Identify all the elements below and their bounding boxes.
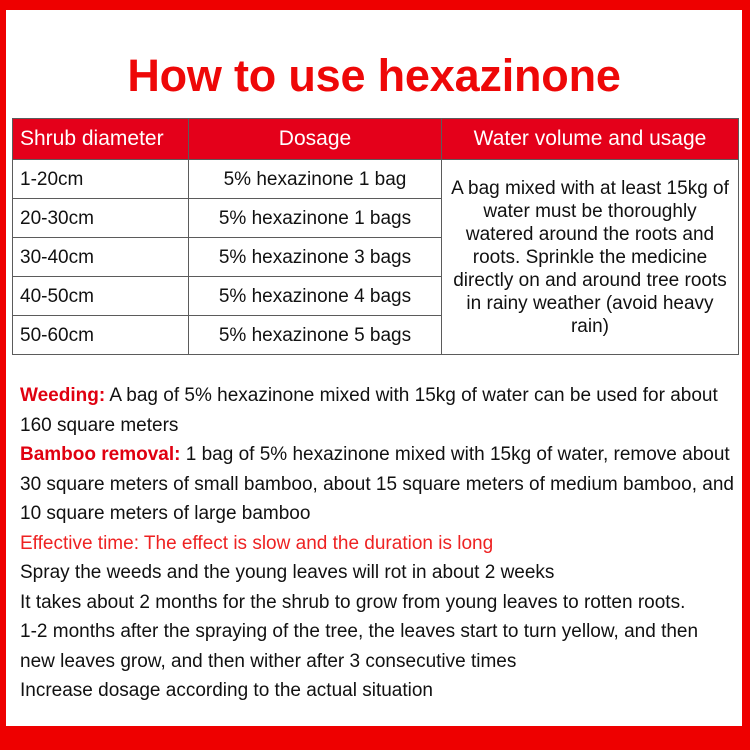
cell-shrub-diameter: 20-30cm	[13, 199, 189, 238]
page-title: How to use hexazinone	[12, 10, 736, 118]
cell-dosage: 5% hexazinone 4 bags	[189, 277, 442, 316]
column-header-water-volume-and-usage: Water volume and usage	[442, 119, 739, 160]
table-header-row: Shrub diameter Dosage Water volume and u…	[13, 119, 739, 160]
cell-shrub-diameter: 30-40cm	[13, 238, 189, 277]
dosage-table: Shrub diameter Dosage Water volume and u…	[12, 118, 739, 355]
cell-shrub-diameter: 1-20cm	[13, 160, 189, 199]
column-header-shrub-diameter: Shrub diameter	[13, 119, 189, 160]
weeding-label: Weeding:	[20, 385, 105, 406]
spray-weeds-note: Spray the weeds and the young leaves wil…	[20, 558, 734, 588]
weeding-text: A bag of 5% hexazinone mixed with 15kg o…	[20, 385, 718, 436]
increase-dosage-note: Increase dosage according to the actual …	[20, 676, 734, 706]
poster-frame: How to use hexazinone Shrub diameter Dos…	[0, 0, 750, 750]
bamboo-removal-label: Bamboo removal:	[20, 444, 180, 465]
shrub-growth-note: It takes about 2 months for the shrub to…	[20, 588, 734, 618]
cell-shrub-diameter: 50-60cm	[13, 316, 189, 355]
cell-dosage: 5% hexazinone 5 bags	[189, 316, 442, 355]
cell-dosage: 5% hexazinone 1 bags	[189, 199, 442, 238]
table-body: 1-20cm 5% hexazinone 1 bag A bag mixed w…	[13, 160, 739, 355]
column-header-dosage: Dosage	[189, 119, 442, 160]
cell-dosage: 5% hexazinone 3 bags	[189, 238, 442, 277]
cell-dosage: 5% hexazinone 1 bag	[189, 160, 442, 199]
cell-water-volume-and-usage: A bag mixed with at least 15kg of water …	[442, 160, 739, 355]
poster-body: How to use hexazinone Shrub diameter Dos…	[6, 10, 742, 726]
table-header: Shrub diameter Dosage Water volume and u…	[13, 119, 739, 160]
cell-shrub-diameter: 40-50cm	[13, 277, 189, 316]
bamboo-removal-note: Bamboo removal: 1 bag of 5% hexazinone m…	[20, 440, 734, 529]
effective-time-note: Effective time: The effect is slow and t…	[20, 529, 734, 559]
instructions-block: Weeding: A bag of 5% hexazinone mixed wi…	[12, 355, 736, 706]
table-row: 1-20cm 5% hexazinone 1 bag A bag mixed w…	[13, 160, 739, 199]
weeding-note: Weeding: A bag of 5% hexazinone mixed wi…	[20, 381, 734, 440]
leaf-yellowing-note: 1-2 months after the spraying of the tre…	[20, 617, 734, 676]
